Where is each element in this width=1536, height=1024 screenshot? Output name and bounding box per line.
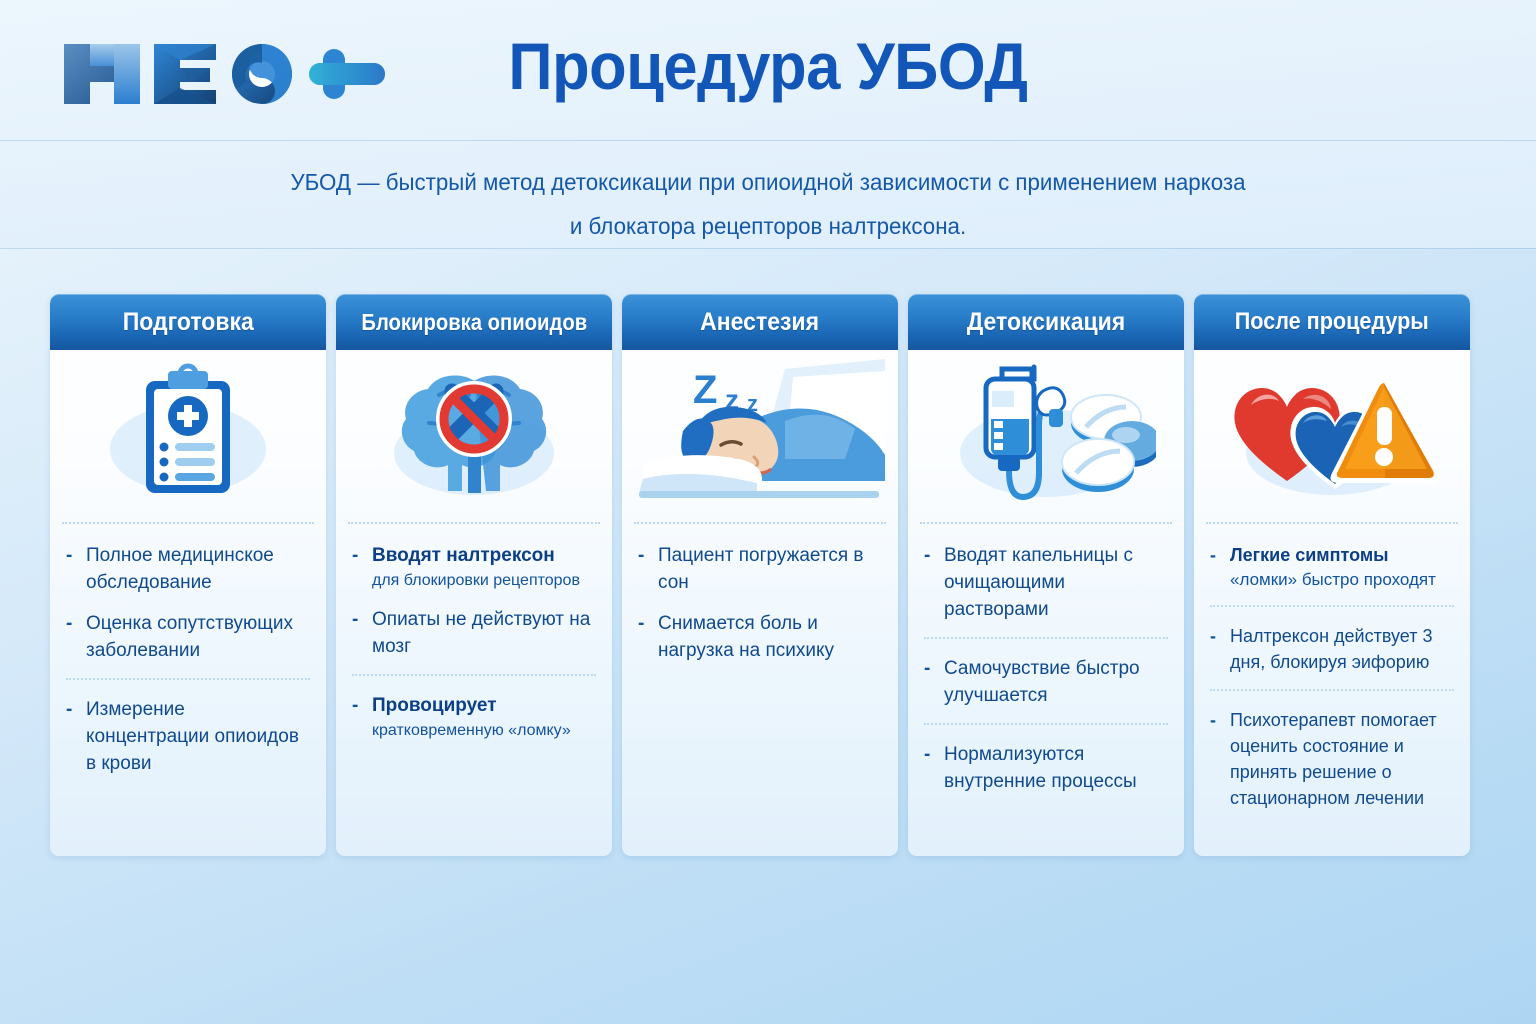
brain-blocked-icon	[336, 350, 612, 522]
stages-container: Подготовка -Полное медицинско	[50, 294, 1486, 856]
item-lead: Провоцирует	[372, 692, 596, 719]
bullet-dash: -	[1210, 623, 1216, 649]
item-text: Нормализуются внутренние процессы	[944, 744, 1137, 792]
stage-header-detox: Детоксикация	[908, 294, 1184, 350]
bullet-list: -Пациент погружается в сон -Снимается бо…	[638, 542, 882, 664]
item-text: Оценка сопутствующих заболевании	[86, 613, 293, 661]
stage-card-opioid-block[interactable]: Блокировка опиоидов	[336, 294, 612, 856]
bullet-dash: -	[924, 741, 930, 768]
bullet-dash: -	[1210, 707, 1216, 733]
iv-drip-pills-icon	[908, 350, 1184, 522]
stage-header-opioid-block: Блокировка опиоидов	[336, 294, 612, 350]
bullet-dash: -	[638, 542, 644, 569]
stage-header-aftercare: После процедуры	[1194, 294, 1470, 350]
hearts-warning-icon	[1194, 350, 1470, 522]
stage-card-preparation[interactable]: Подготовка -Полное медицинско	[50, 294, 326, 856]
item-lead: Вводят налтрексон	[372, 542, 596, 569]
bullet-dash: -	[352, 692, 358, 719]
stage-title: Детоксикация	[967, 308, 1125, 337]
list-item: - Вводят налтрексон для блокировки рецеп…	[352, 542, 596, 592]
stage-card-aftercare[interactable]: После процедуры -	[1194, 294, 1470, 856]
subtitle-line-1: УБОД — быстрый метод детоксикации при оп…	[290, 169, 1245, 195]
list-item: -Измерение концентрации опиоидов в крови	[66, 696, 310, 777]
item-text: Снимается боль и нагрузка на психику	[658, 613, 834, 661]
item-text: Самочувствие быстро улучшается	[944, 658, 1140, 706]
bullet-list: -Полное медицинское обследование -Оценка…	[66, 542, 310, 777]
item-text: Налтрексон действует 3 дня, блокируя эиф…	[1230, 626, 1432, 672]
stage-body-anesthesia: -Пациент погружается в сон -Снимается бо…	[622, 524, 898, 856]
item-lead: Легкие симптомы	[1230, 542, 1454, 568]
item-text: Пациент погружается в сон	[658, 545, 863, 593]
bullet-dash: -	[352, 542, 358, 569]
bullet-dash: -	[638, 610, 644, 637]
stage-title: Подготовка	[122, 308, 253, 337]
list-item: -Пациент погружается в сон	[638, 542, 882, 596]
stage-body-detox: -Вводят капельницы с очищающими раствора…	[908, 524, 1184, 856]
stage-body-opioid-block: - Вводят налтрексон для блокировки рецеп…	[336, 524, 612, 856]
stage-card-detox[interactable]: Детоксикация	[908, 294, 1184, 856]
bullet-dash: -	[1210, 542, 1216, 568]
stage-header-preparation: Подготовка	[50, 294, 326, 350]
stage-title: После процедуры	[1235, 308, 1429, 336]
bullet-dash: -	[66, 610, 72, 637]
bullet-dash: -	[352, 606, 358, 633]
list-item: -Вводят капельницы с очищающими раствора…	[924, 542, 1168, 639]
bullet-list: - Легкие симптомы «ломки» быстро проходя…	[1210, 542, 1454, 811]
bullet-dash: -	[66, 542, 72, 569]
list-item: -Снимается боль и нагрузка на психику	[638, 610, 882, 664]
stage-body-aftercare: - Легкие симптомы «ломки» быстро проходя…	[1194, 524, 1470, 856]
item-text: Вводят капельницы с очищающими растворам…	[944, 545, 1133, 620]
stage-card-anesthesia[interactable]: Анестезия Z z z	[622, 294, 898, 856]
list-item: -Психотерапевт помогает оценить состояни…	[1210, 707, 1454, 811]
subtitle-line-2: и блокатора рецепторов налтрексона.	[205, 204, 1330, 248]
list-item: -Оценка сопутствующих заболевании	[66, 610, 310, 680]
bullet-list: - Вводят налтрексон для блокировки рецеп…	[352, 542, 596, 742]
item-text: Опиаты не действуют на мозг	[372, 609, 590, 657]
item-subtext: для блокировки рецепторов	[372, 569, 596, 592]
header-divider-bottom	[0, 248, 1536, 249]
stage-title: Анестезия	[701, 308, 820, 337]
sleeping-patient-icon: Z z z	[622, 350, 898, 522]
clipboard-medical-icon	[50, 350, 326, 522]
stage-header-anesthesia: Анестезия	[622, 294, 898, 350]
bullet-list: -Вводят капельницы с очищающими раствора…	[924, 542, 1168, 795]
item-subtext: «ломки» быстро проходят	[1230, 568, 1454, 591]
item-text: Измерение концентрации опиоидов в крови	[86, 699, 299, 774]
bullet-dash: -	[924, 655, 930, 682]
bullet-dash: -	[924, 542, 930, 569]
stage-body-preparation: -Полное медицинское обследование -Оценка…	[50, 524, 326, 856]
bullet-dash: -	[66, 696, 72, 723]
header-divider-top	[0, 140, 1536, 141]
page-subtitle: УБОД — быстрый метод детоксикации при оп…	[205, 160, 1330, 248]
page-title: Процедура УБОД	[54, 28, 1482, 104]
stage-title: Блокировка опиоидов	[361, 309, 587, 336]
item-subtext: кратковременную «ломку»	[372, 719, 596, 742]
list-item: -Нормализуются внутренние процессы	[924, 741, 1168, 795]
list-item: - Легкие симптомы «ломки» быстро проходя…	[1210, 542, 1454, 607]
svg-text:Z: Z	[693, 368, 717, 412]
item-text: Психотерапевт помогает оценить состояние…	[1230, 710, 1437, 808]
list-item: - Провоцирует кратковременную «ломку»	[352, 692, 596, 742]
list-item: -Полное медицинское обследование	[66, 542, 310, 596]
list-item: -Налтрексон действует 3 дня, блокируя эи…	[1210, 623, 1454, 691]
list-item: -Опиаты не действуют на мозг	[352, 606, 596, 676]
list-item: -Самочувствие быстро улучшается	[924, 655, 1168, 725]
item-text: Полное медицинское обследование	[86, 545, 274, 593]
